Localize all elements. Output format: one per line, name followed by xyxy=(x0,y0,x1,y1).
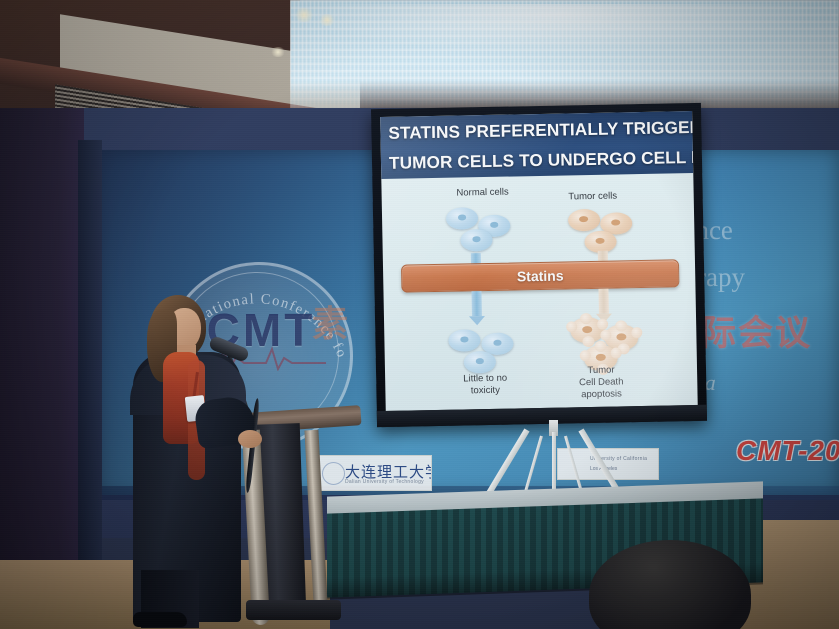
slide-title: STATINS PREFERENTIALLY TRIGGER TUMOR CEL… xyxy=(380,111,693,179)
slide-title-line2: TUMOR CELLS TO UNDERGO CELL DEATH xyxy=(389,142,694,178)
normal-cell xyxy=(460,229,492,252)
ceiling-light-spot xyxy=(270,47,286,57)
tumor-cell xyxy=(568,209,600,232)
arrow-down-tumor-out xyxy=(595,289,612,323)
banner-left-post xyxy=(78,140,102,580)
banner-year-badge: CMT-2016 xyxy=(736,435,839,467)
conference-photo-scene: International Conference for Cancer CMT … xyxy=(0,0,839,629)
tumor-cell xyxy=(584,231,616,254)
sponsor-seal-icon xyxy=(322,462,345,485)
label-normal-cells: Normal cells xyxy=(440,186,526,200)
projection-screen: STATINS PREFERENTIALLY TRIGGER TUMOR CEL… xyxy=(371,103,707,427)
apoptotic-tumor-cell xyxy=(570,317,604,344)
speaker-shoe xyxy=(133,612,187,627)
slide-content: STATINS PREFERENTIALLY TRIGGER TUMOR CEL… xyxy=(380,111,698,411)
normal-cell-surviving xyxy=(464,351,496,374)
chandelier-glow xyxy=(300,4,820,54)
label-tumor-cells: Tumor cells xyxy=(550,190,636,204)
left-wall-panel xyxy=(0,108,84,578)
sponsor-name-en: Dalian University of Technology xyxy=(345,479,424,485)
arrow-down-normal-out xyxy=(468,291,485,325)
statins-bar-label: Statins xyxy=(402,260,678,291)
normal-cell xyxy=(446,207,478,230)
normal-cell-surviving xyxy=(448,329,480,352)
ceiling-light-spot xyxy=(293,8,315,22)
speaker-hand xyxy=(238,430,262,448)
ceiling-light-spot xyxy=(318,14,336,26)
banner-text-chinese-left: 素 xyxy=(312,295,352,347)
label-little-to-no-toxicity: Little to no toxicity xyxy=(435,372,535,398)
podium-base xyxy=(246,600,341,620)
sponsor-logo-dalian: 大连理工大学 Dalian University of Technology xyxy=(318,455,432,491)
statins-bar: Statins xyxy=(401,259,679,292)
label-tumor-cell-death: Tumor Cell Death apoptosis xyxy=(553,364,650,402)
